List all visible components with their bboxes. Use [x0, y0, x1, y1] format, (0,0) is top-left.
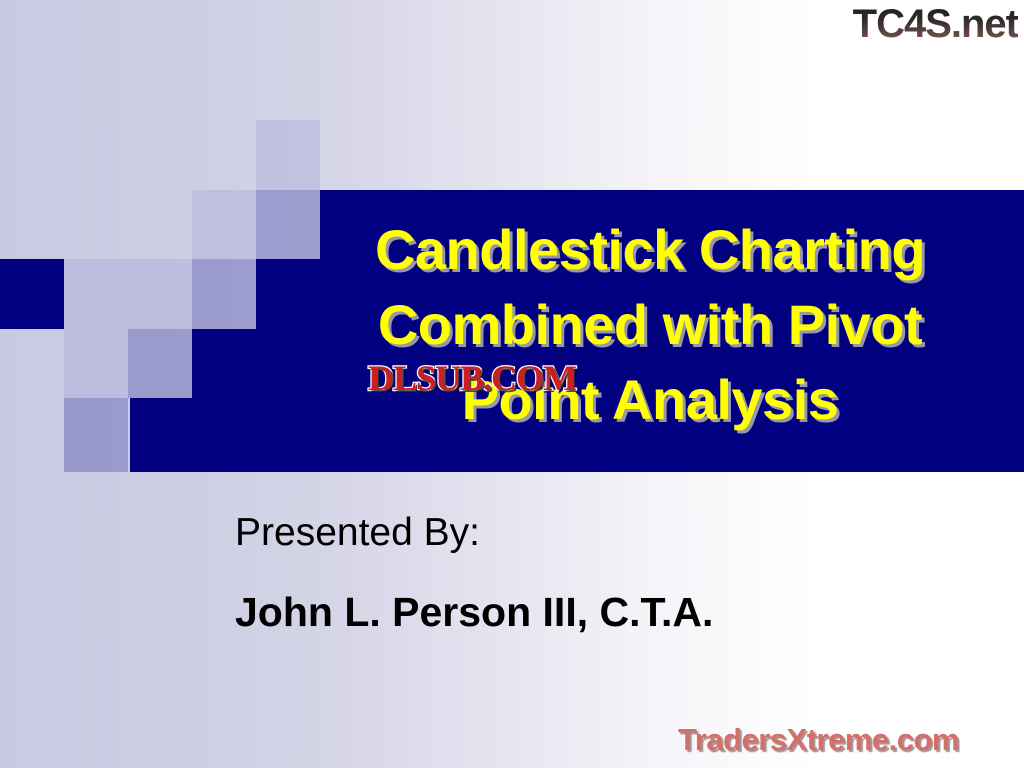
block-navy-left [0, 259, 64, 329]
tc4s-brand-logo: TC4S.net [853, 0, 1018, 48]
presented-by-label: Presented By: [235, 505, 975, 561]
title-line-1: Candlestick Charting [300, 212, 1000, 287]
slide-title: Candlestick Charting Combined with Pivot… [300, 212, 1000, 437]
dlsub-watermark: DLSUB.COM [368, 358, 576, 398]
tradersxtreme-brand-logo: TradersXtreme.com [678, 722, 959, 758]
presenter-block: Presented By: John L. Person III, C.T.A. [235, 505, 975, 647]
block-r5-c2 [64, 398, 128, 472]
block-r3-c2 [64, 259, 128, 329]
block-r4-c2 [64, 329, 128, 398]
presentation-slide: Candlestick Charting Combined with Pivot… [0, 0, 1024, 768]
presenter-name: John L. Person III, C.T.A. [235, 577, 975, 647]
title-line-2: Combined with Pivot [300, 287, 1000, 362]
block-r1-c4 [256, 120, 320, 190]
